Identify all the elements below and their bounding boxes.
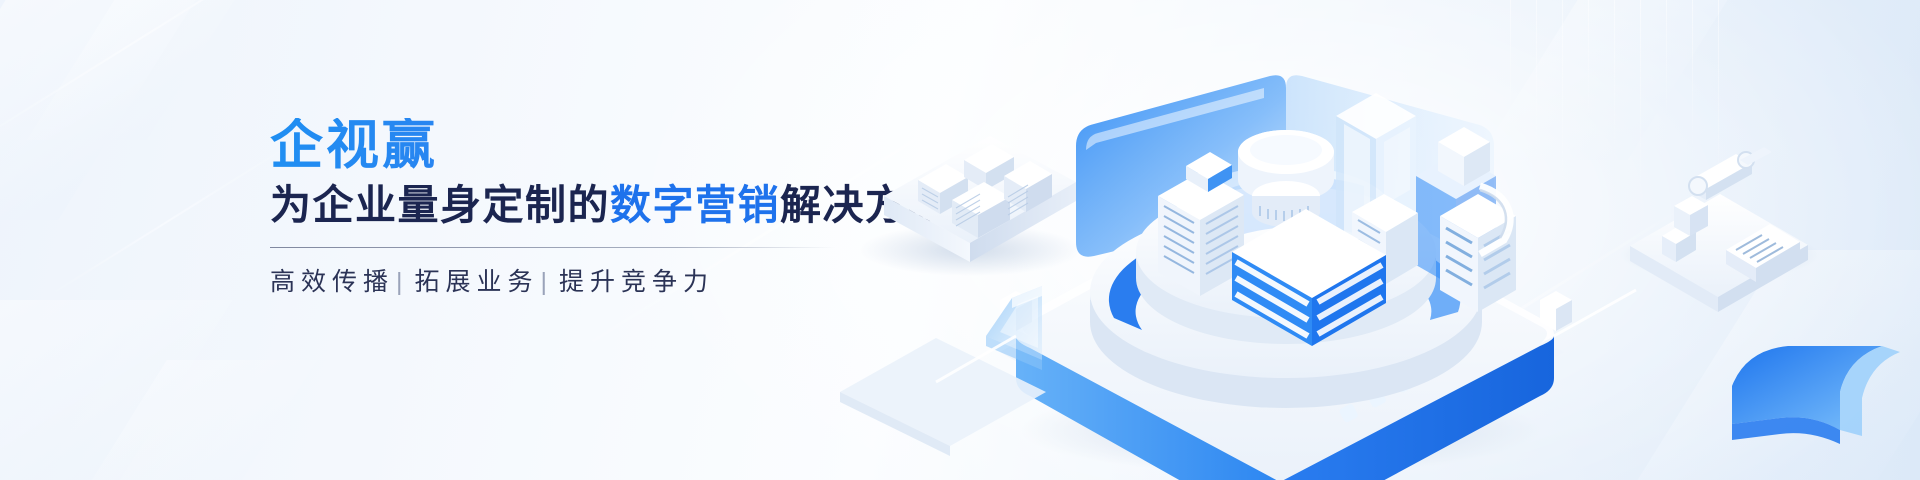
glass-triangle bbox=[986, 286, 1042, 370]
divider bbox=[270, 247, 835, 248]
tower-cylinder bbox=[1238, 130, 1334, 227]
blue-ribbon bbox=[1732, 346, 1900, 444]
brand-title: 企视赢 bbox=[270, 118, 910, 174]
tagline-item-3: 提升竞争力 bbox=[559, 267, 714, 297]
tagline-item-1: 高效传播 bbox=[270, 267, 394, 297]
headline-lead: 为企业量身定制的 bbox=[270, 182, 610, 228]
tagline-item-2: 拓展业务 bbox=[415, 267, 539, 297]
headline: 为企业量身定制的数字营销解决方案 bbox=[270, 183, 910, 229]
banner-copy: 企视赢 为企业量身定制的数字营销解决方案 高效传播 | 拓展业务 | 提升竞争力 bbox=[270, 118, 910, 297]
tagline-separator: | bbox=[396, 267, 409, 297]
hero-banner: 企视赢 为企业量身定制的数字营销解决方案 高效传播 | 拓展业务 | 提升竞争力 bbox=[0, 0, 1920, 480]
hero-illustration bbox=[840, 0, 1920, 480]
robot-arm bbox=[1630, 147, 1808, 312]
headline-highlight: 数字营销 bbox=[610, 182, 780, 228]
tagline: 高效传播 | 拓展业务 | 提升竞争力 bbox=[270, 267, 910, 297]
tagline-separator: | bbox=[541, 267, 554, 297]
